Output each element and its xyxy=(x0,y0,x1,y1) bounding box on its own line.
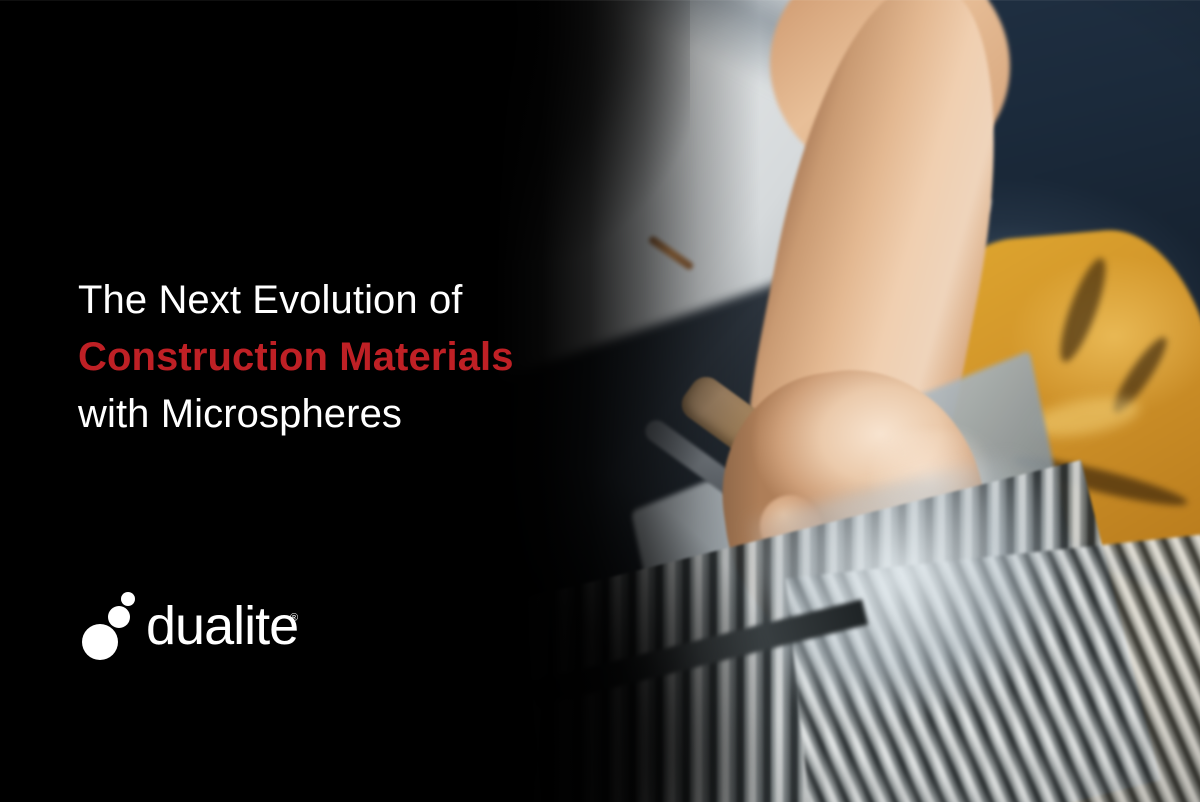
headline-line-3: with Microspheres xyxy=(78,386,638,443)
logo-small-bubble-icon xyxy=(121,592,135,606)
headline-line-2: Construction Materials xyxy=(78,329,638,386)
promo-banner: The Next Evolution of Construction Mater… xyxy=(0,0,1200,802)
headline: The Next Evolution of Construction Mater… xyxy=(78,272,638,443)
logo-wordmark: dualite xyxy=(146,596,298,656)
top-hairline xyxy=(0,0,1200,1)
headline-line-1: The Next Evolution of xyxy=(78,272,638,329)
logo-trademark-symbol: ® xyxy=(290,612,298,624)
logo-medium-bubble-icon xyxy=(108,606,130,628)
logo-large-bubble-icon xyxy=(82,624,118,660)
dualite-logo[interactable]: dualite ® xyxy=(82,592,322,662)
